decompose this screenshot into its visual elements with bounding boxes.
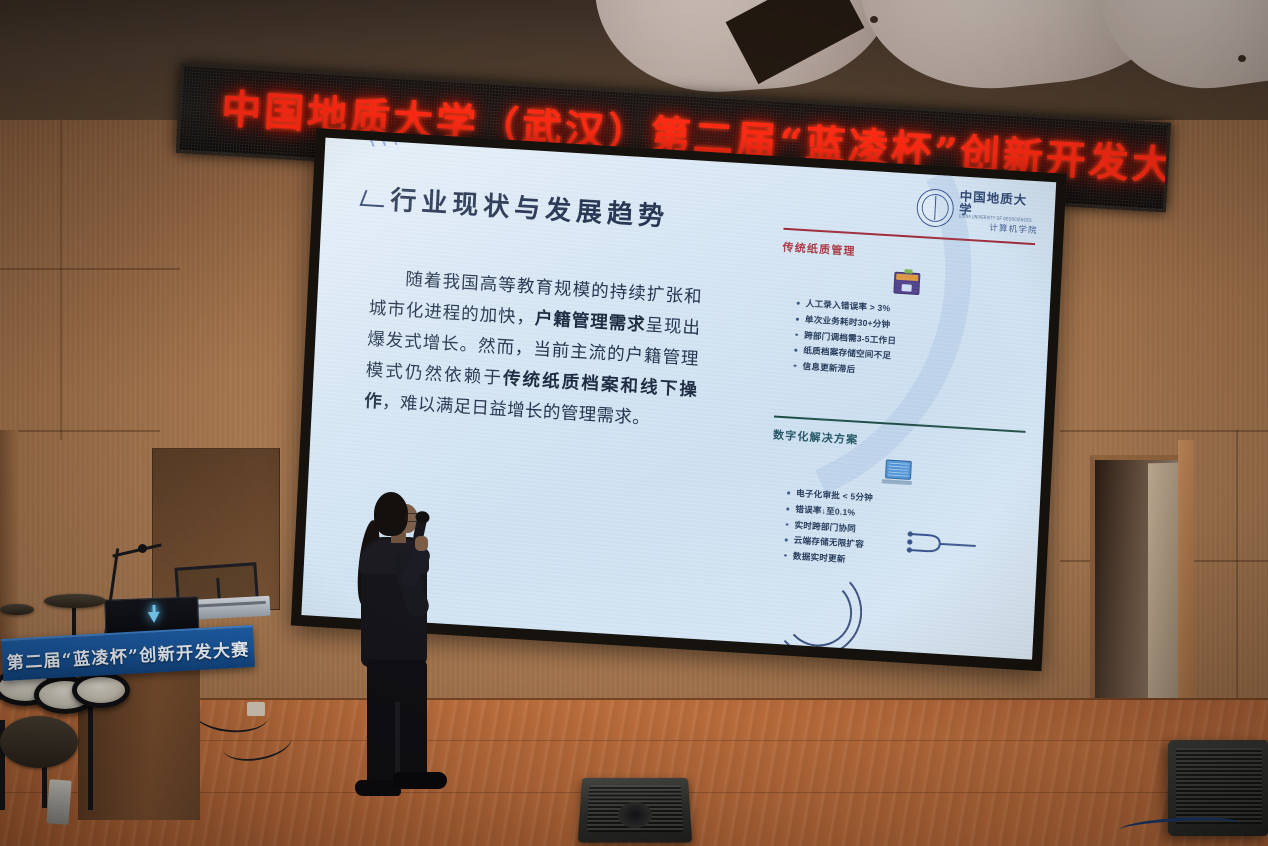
podium-banner-text: 第二届“蓝凌杯”创新开发大赛 — [6, 635, 250, 674]
drum-pedal[interactable] — [46, 779, 71, 824]
ceiling-sensor-icon — [870, 16, 878, 23]
laptop-brand-logo-icon — [148, 612, 160, 623]
university-seal-icon — [916, 188, 955, 228]
folder-icon — [893, 272, 920, 296]
title-decoration-icon — [360, 190, 390, 207]
panel-traditional: 传统纸质管理 人工录入错误率 > 3% 单次业务耗时30+分钟 跨部门调档需3-… — [776, 228, 1035, 389]
bullet-list-traditional: 人工录入错误率 > 3% 单次业务耗时30+分钟 跨部门调档需3-5工作日 纸质… — [776, 295, 1031, 388]
microphone-head-icon — [138, 544, 147, 553]
presenter-hair — [374, 492, 408, 536]
bullet-list-digital: 电子化审批 < 5分钟 错误率↓至0.1% 实时跨部门协同 云端存储无限扩容 数… — [767, 485, 1022, 578]
laptop-base-icon — [882, 480, 912, 486]
folder-tab-icon — [904, 270, 912, 274]
body-emphasis-2: 传统纸质档案和线下操作 — [364, 369, 698, 413]
panel-heading-digital: 数字化解决方案 — [773, 427, 1025, 458]
body-emphasis-1: 户籍管理需求 — [534, 309, 646, 336]
wall-seam — [0, 430, 160, 432]
auditorium-scene: 中国地质大学（武汉）第二届“蓝凌杯”创新开发大赛 行业现状与发展趋势 — [0, 0, 1268, 846]
slide-body-text: 随着我国高等教育规模的持续扩张和城市化进程的加快，户籍管理需求呈现出爆发式增长。… — [363, 263, 702, 438]
wall-seam — [1236, 430, 1238, 730]
presenter-shoe — [393, 772, 447, 789]
door-panel[interactable] — [1148, 463, 1180, 736]
panel-heading-traditional: 传统纸质管理 — [782, 239, 1034, 270]
presenter — [345, 492, 445, 822]
laptop-icon — [882, 460, 913, 486]
cymbal[interactable] — [0, 604, 34, 615]
drum-pad[interactable] — [72, 672, 130, 708]
wall-seam — [0, 268, 180, 270]
university-logo-text: 中国地质大学 CHINA UNIVERSITY OF GEOSCIENCES 计… — [958, 189, 1040, 235]
university-logo: 中国地质大学 CHINA UNIVERSITY OF GEOSCIENCES 计… — [916, 182, 1040, 239]
floor-power-box — [247, 702, 265, 716]
speaker-grill — [1176, 748, 1262, 824]
drum-stand-rod — [88, 700, 93, 810]
panel-digital: 数字化解决方案 电子化审批 < 5分钟 错误率↓至0.1% 实时跨部门协同 云端… — [767, 415, 1026, 578]
speaker-cone-icon — [618, 802, 653, 828]
presenter-hand — [415, 536, 428, 551]
hi-hat-cymbal[interactable] — [0, 716, 78, 768]
cymbal[interactable] — [44, 594, 106, 608]
body-part-1 — [405, 270, 406, 290]
university-school: 计算机学院 — [989, 223, 1038, 235]
ceiling-sensor-icon — [1238, 55, 1246, 62]
wall-seam — [60, 120, 62, 440]
laptop-screen-icon — [885, 460, 912, 481]
stage-monitor-speaker — [578, 778, 692, 843]
